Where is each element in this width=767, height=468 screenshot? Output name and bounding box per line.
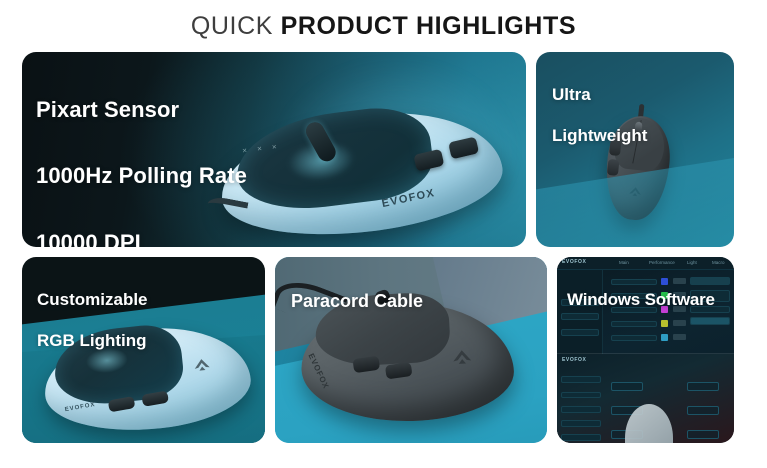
software-setting-row-5 (611, 335, 657, 341)
software-nav-light: Light (687, 260, 697, 265)
card-label-line-2: Lightweight (552, 126, 647, 147)
software-nav-macro: Macro (712, 260, 725, 265)
card-label-line-2: RGB Lighting (37, 331, 148, 352)
page-title-bold: PRODUCT HIGHLIGHTS (281, 12, 577, 40)
highlight-card-pixart-sensor[interactable]: × × × EVOFOX Pixart Sensor 1000Hz Pollin… (22, 52, 526, 247)
software-logo-lower: EVOFOX (562, 357, 586, 363)
card-label-line-2: 1000Hz Polling Rate (36, 163, 247, 190)
card-label-line-3: 10000 DPI (36, 230, 247, 247)
software-logo: EVOFOX (562, 259, 586, 265)
software-button-forward (687, 382, 719, 391)
card-label-line-1: Windows Software (567, 290, 715, 311)
software-color-swatch-cyan (661, 334, 668, 341)
card-label-pixart-sensor: Pixart Sensor 1000Hz Polling Rate 10000 … (36, 70, 247, 247)
page-title: QUICK PRODUCT HIGHLIGHTS (0, 11, 767, 41)
card-label-line-1: Pixart Sensor (36, 97, 247, 124)
software-profile-slider (561, 392, 601, 398)
card-label-windows-software: Windows Software (567, 269, 715, 331)
software-button-dpi-cycle (687, 430, 719, 439)
highlight-card-rgb-lighting[interactable]: EVOFOX Customizable RGB Lighting (22, 257, 265, 443)
software-value-box-5 (673, 334, 686, 340)
software-lower-panel: EVOFOX (557, 354, 734, 443)
card-label-line-1: Customizable (37, 290, 148, 311)
evofox-logo-icon (628, 185, 643, 198)
highlight-card-windows-software[interactable]: EVOFOX Main Performance Light Macro (557, 257, 734, 443)
software-rename-field (561, 406, 601, 413)
highlight-card-grid: × × × EVOFOX Pixart Sensor 1000Hz Pollin… (22, 52, 734, 443)
software-apply-button-lower (561, 434, 601, 441)
card-label-ultra-lightweight: Ultra Lightweight (552, 64, 647, 168)
software-reset-button-lower (561, 420, 601, 427)
card-label-line-1: Ultra (552, 85, 647, 106)
evofox-logo-icon (192, 357, 211, 374)
software-nav-performance: Performance (649, 260, 675, 265)
software-button-left-click (611, 382, 643, 391)
software-nav-main: Main (619, 260, 629, 265)
software-profile-select (561, 376, 601, 383)
card-label-line-1: Paracord Cable (291, 291, 423, 313)
highlights-page: QUICK PRODUCT HIGHLIGHTS × × × EVOFOX Pi… (0, 0, 767, 468)
highlight-card-paracord-cable[interactable]: EVOFOX Paracord Cable (275, 257, 547, 443)
highlight-card-ultra-lightweight[interactable]: Ultra Lightweight (536, 52, 734, 247)
card-label-rgb-lighting: Customizable RGB Lighting (37, 269, 148, 373)
page-title-light: QUICK (191, 12, 281, 40)
software-button-backward (687, 406, 719, 415)
evofox-logo-icon (451, 348, 474, 367)
card-label-paracord-cable: Paracord Cable (291, 269, 423, 335)
